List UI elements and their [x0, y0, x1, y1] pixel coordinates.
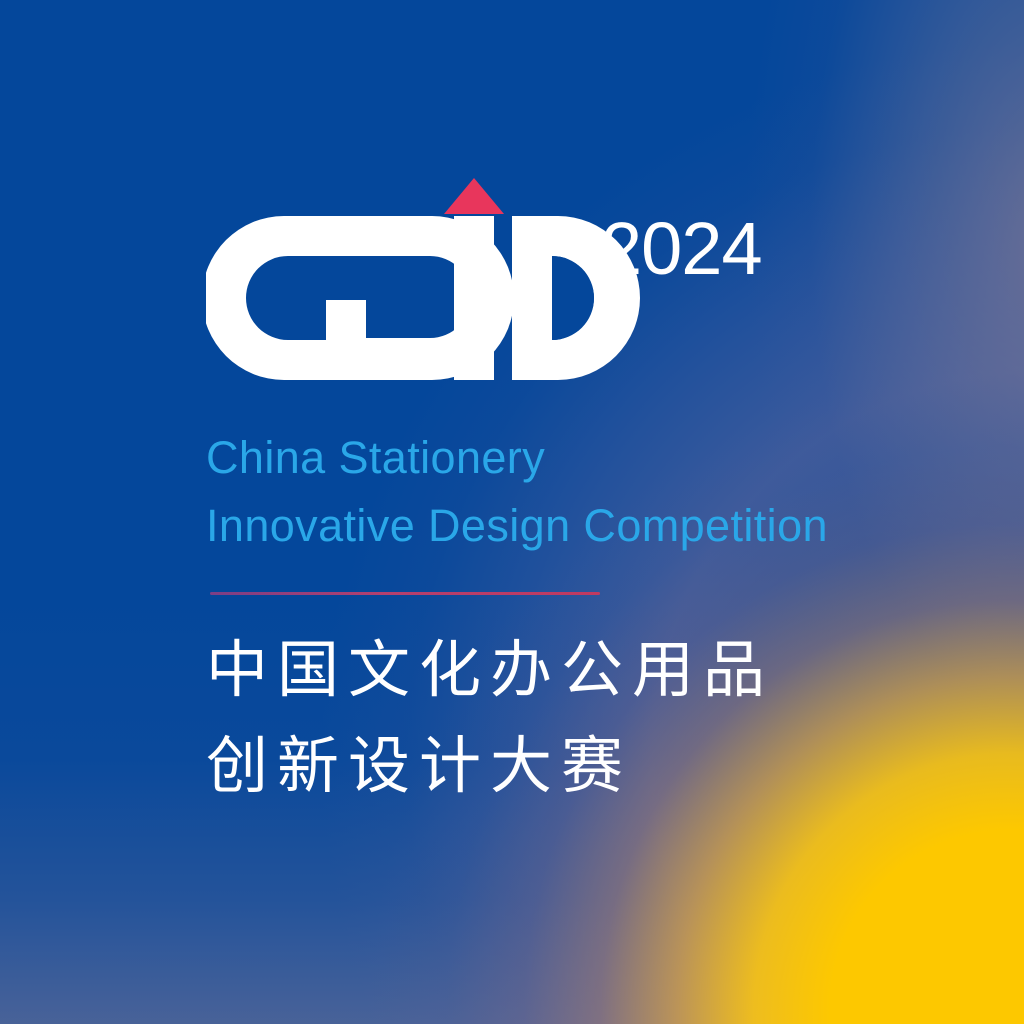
- title-chinese-line-2: 创新设计大赛: [206, 718, 774, 814]
- csid-logo: 2024: [206, 176, 806, 396]
- title-chinese: 中国文化办公用品 创新设计大赛: [206, 622, 774, 814]
- logo-letter-i: [454, 216, 494, 380]
- logo-letter-c: [206, 216, 328, 380]
- subtitle-line-1: China Stationery: [206, 424, 828, 492]
- poster-canvas: 2024 China Stationery Innovative Design …: [0, 0, 1024, 1024]
- title-chinese-line-1: 中国文化办公用品: [206, 622, 774, 718]
- subtitle-line-2: Innovative Design Competition: [206, 492, 828, 560]
- divider-rule: [210, 592, 600, 595]
- triangle-marker-icon: [444, 178, 504, 214]
- subtitle-english: China Stationery Innovative Design Compe…: [206, 424, 828, 560]
- logo-year: 2024: [601, 212, 762, 286]
- poster-content: 2024 China Stationery Innovative Design …: [206, 0, 906, 1024]
